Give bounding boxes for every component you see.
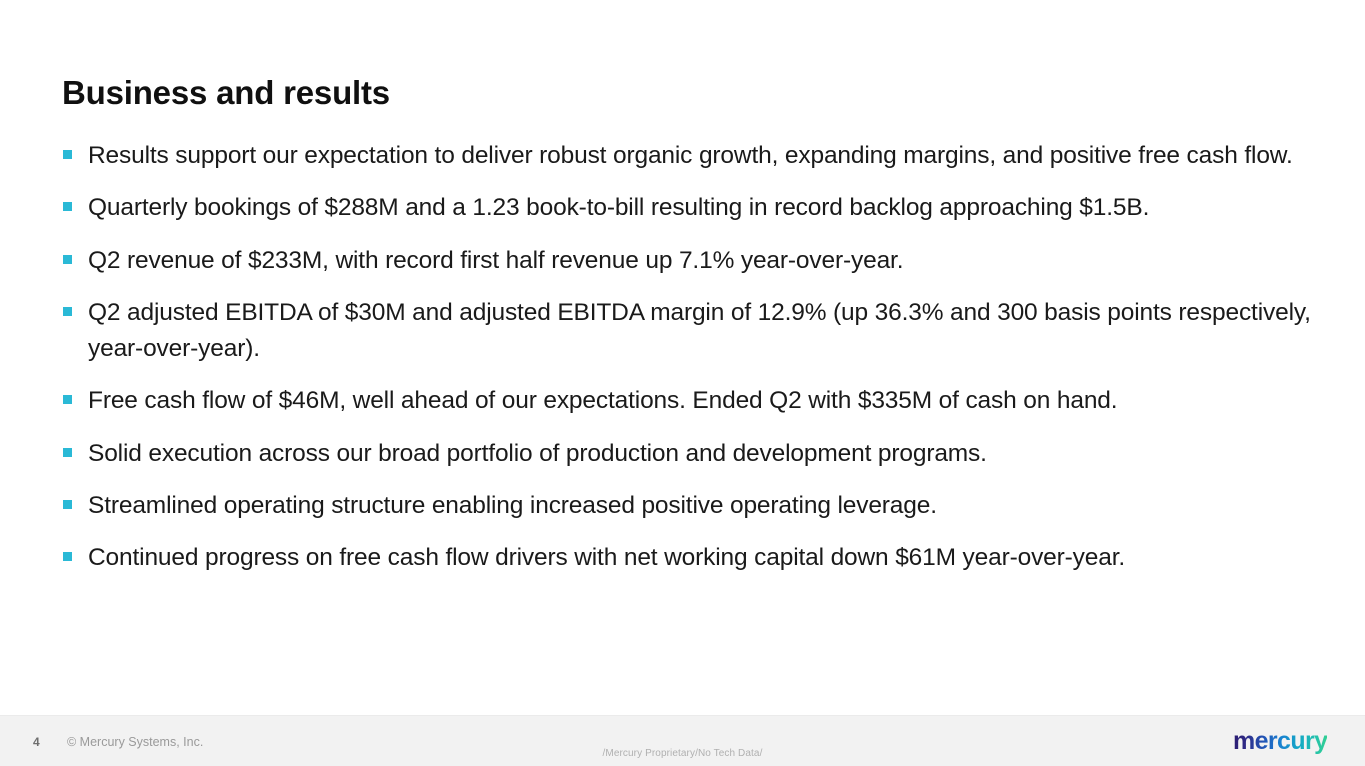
list-item: Results support our expectation to deliv… bbox=[62, 138, 1312, 174]
list-item: Continued progress on free cash flow dri… bbox=[62, 540, 1312, 576]
list-item: Free cash flow of $46M, well ahead of ou… bbox=[62, 383, 1312, 419]
bullet-square-icon bbox=[63, 202, 72, 211]
list-item: Quarterly bookings of $288M and a 1.23 b… bbox=[62, 190, 1312, 226]
bullet-square-icon bbox=[63, 500, 72, 509]
list-item-text: Quarterly bookings of $288M and a 1.23 b… bbox=[88, 190, 1312, 226]
page-number: 4 bbox=[33, 735, 40, 749]
list-item: Q2 adjusted EBITDA of $30M and adjusted … bbox=[62, 295, 1312, 368]
list-item-text: Streamlined operating structure enabling… bbox=[88, 488, 1312, 524]
bullet-square-icon bbox=[63, 552, 72, 561]
list-item-text: Solid execution across our broad portfol… bbox=[88, 436, 1312, 472]
mercury-logo-text: mercury bbox=[1233, 728, 1327, 754]
page-title: Business and results bbox=[62, 74, 390, 112]
list-item-text: Free cash flow of $46M, well ahead of ou… bbox=[88, 383, 1312, 419]
list-item: Q2 revenue of $233M, with record first h… bbox=[62, 243, 1312, 279]
list-item-text: Continued progress on free cash flow dri… bbox=[88, 540, 1312, 576]
bullet-list: Results support our expectation to deliv… bbox=[62, 138, 1312, 576]
list-item-text: Q2 revenue of $233M, with record first h… bbox=[88, 243, 1312, 279]
bullet-square-icon bbox=[63, 448, 72, 457]
classification-marking: /Mercury Proprietary/No Tech Data/ bbox=[0, 748, 1365, 759]
list-item-text: Q2 adjusted EBITDA of $30M and adjusted … bbox=[88, 295, 1312, 368]
copyright-notice: © Mercury Systems, Inc. bbox=[67, 735, 203, 749]
bullet-square-icon bbox=[63, 255, 72, 264]
mercury-logo: mercury bbox=[1233, 728, 1353, 754]
presentation-slide: Business and results Results support our… bbox=[0, 0, 1365, 766]
list-item: Streamlined operating structure enabling… bbox=[62, 488, 1312, 524]
list-item: Solid execution across our broad portfol… bbox=[62, 436, 1312, 472]
bullet-square-icon bbox=[63, 150, 72, 159]
list-item-text: Results support our expectation to deliv… bbox=[88, 138, 1312, 174]
bullet-square-icon bbox=[63, 307, 72, 316]
bullet-square-icon bbox=[63, 395, 72, 404]
